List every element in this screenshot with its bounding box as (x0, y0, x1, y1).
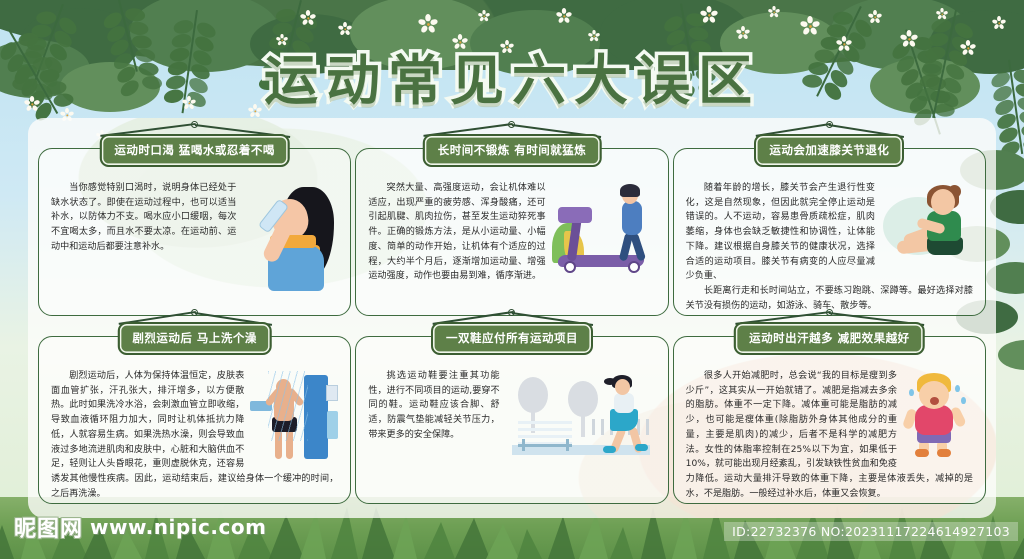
card-heading-plaque: 运动时出汗越多 减肥效果越好 (734, 322, 925, 355)
flower-icon (939, 11, 946, 18)
card-heading-text: 长时间不锻炼 有时间就猛炼 (438, 143, 587, 157)
card-frame: 当你感觉特别口渴时，说明身体已经处于缺水状态了。即使在运动过程中，也可以适当补水… (38, 148, 351, 316)
card-body: 很多人开始减肥时，总会说“我的目标是瘦到多少斤”，这其实从一开始就错了。减肥是指… (674, 363, 985, 497)
watermark-url: www.nipic.com (90, 515, 266, 539)
cards-grid: 运动时口渴 猛喝水或忍着不喝 当你感觉特别口渴时，说明身体已经处于缺水状态了。即… (28, 118, 996, 518)
hanger-ring-icon (191, 121, 198, 128)
flower-icon (771, 9, 778, 16)
id-stamp: ID:22732376 NO:20231117224614927103 (724, 522, 1018, 541)
card-shower[interactable]: 剧烈运动后 马上洗个澡 剧烈运动后，人体为保持体温恒定，皮肤表面血管扩张，汗孔张… (38, 322, 351, 504)
card-frame: 很多人开始减肥时，总会说“我的目标是瘦到多少斤”，这其实从一开始就错了。减肥是指… (673, 336, 986, 504)
chubby-kid-sweating-illustration (903, 371, 973, 457)
card-knee[interactable]: 运动会加速膝关节退化 随着年龄的增长，膝关节会产生退行性变化，这是自然现象，但因… (673, 134, 986, 316)
flower-icon (558, 10, 570, 22)
card-frame: 随着年龄的增长，膝关节会产生退行性变化，这是自然现象，但因此就完全停止运动是错误… (673, 148, 986, 316)
card-body: 突然大量、高强度运动，会让机体难以适应，出现严重的疲劳感、浑身酸痛，还可引起肌腱… (356, 175, 667, 309)
woman-drinking-water-illustration (242, 183, 338, 291)
grass-blade (579, 513, 608, 559)
card-heading-plaque: 一双鞋应付所有运动项目 (431, 322, 593, 355)
flower-icon (995, 19, 1004, 28)
flower-icon (702, 8, 717, 23)
grass-blade (455, 518, 490, 559)
card-body-text-2: 长距离行走和长时间站立，不要练习跑跳、深蹲等。最好选择对膝关节没有损伤的运动，如… (686, 284, 973, 309)
jogger-park-bench-illustration (506, 371, 656, 463)
grass-blade (517, 529, 542, 559)
poster-canvas: 运动常见六大误区 运动时口渴 猛喝水或忍着不喝 (0, 0, 1024, 559)
card-heading-plaque: 运动时口渴 猛喝水或忍着不喝 (99, 134, 290, 167)
girl-sitting-knee-illustration (881, 183, 973, 275)
flower-icon (801, 17, 819, 35)
grass-blade (548, 516, 575, 559)
flower-icon (419, 15, 437, 33)
poster-title: 运动常见六大误区 (0, 36, 1024, 115)
grass-blade (486, 524, 519, 559)
grass-blade (0, 525, 14, 559)
card-heading-plaque: 运动会加速膝关节退化 (754, 134, 904, 167)
card-intensity[interactable]: 长时间不锻炼 有时间就猛炼 突然大量、高强度运动，会让机体难以适应，出现严重的疲… (355, 134, 668, 316)
leaf-blob-right (998, 340, 1024, 370)
card-frame: 剧烈运动后，人体为保持体温恒定，皮肤表面血管扩张，汗孔张大，排汗增多，以方便散热… (38, 336, 351, 504)
watermark: 昵图网 www.nipic.com (14, 511, 266, 543)
card-heading-plaque: 剧烈运动后 马上洗个澡 (117, 322, 272, 355)
card-body: 随着年龄的增长，膝关节会产生退行性变化，这是自然现象，但因此就完全停止运动是错误… (674, 175, 985, 309)
flower-icon (302, 12, 314, 24)
man-showering-illustration (250, 371, 338, 467)
flower-icon (481, 13, 488, 20)
watermark-brand-cn: 昵图网 (14, 511, 83, 543)
card-body: 挑选运动鞋要注重其功能性，进行不同项目的运动,要穿不同的鞋。运动鞋应该合脚、舒适… (356, 363, 667, 497)
card-sweat[interactable]: 运动时出汗越多 减肥效果越好 (673, 322, 986, 504)
card-heading-text: 运动时出汗越多 减肥效果越好 (749, 331, 910, 345)
treadmill-runner-illustration (552, 183, 656, 279)
grass-blade (393, 514, 417, 559)
grass-blade (610, 527, 633, 559)
card-shoes[interactable]: 一双鞋应付所有运动项目 挑 (355, 322, 668, 504)
grass-blade (300, 511, 326, 559)
grass-blade (269, 515, 304, 559)
card-body: 当你感觉特别口渴时，说明身体已经处于缺水状态了。即使在运动过程中，也可以适当补水… (39, 175, 350, 309)
card-heading-text: 运动时口渴 猛喝水或忍着不喝 (114, 143, 275, 157)
card-body: 剧烈运动后，人体为保持体温恒定，皮肤表面血管扩张，汗孔张大，排汗增多，以方便散热… (39, 363, 350, 497)
card-heading-text: 运动会加速膝关节退化 (769, 143, 889, 157)
card-heading-text: 一双鞋应付所有运动项目 (446, 331, 578, 345)
hanger-ring-icon (508, 121, 515, 128)
content-panel: 运动时口渴 猛喝水或忍着不喝 当你感觉特别口渴时，说明身体已经处于缺水状态了。即… (28, 118, 996, 518)
card-heading-text: 剧烈运动后 马上洗个澡 (132, 331, 257, 345)
card-frame: 突然大量、高强度运动，会让机体难以适应，出现严重的疲劳感、浑身酸痛，还可引起肌腱… (355, 148, 668, 316)
flower-icon (871, 13, 880, 22)
card-frame: 挑选运动鞋要注重其功能性，进行不同项目的运动,要穿不同的鞋。运动鞋应该合脚、舒适… (355, 336, 668, 504)
flower-icon (341, 25, 350, 34)
grass-blade (424, 522, 455, 559)
hanger-ring-icon (826, 121, 833, 128)
card-heading-plaque: 长时间不锻炼 有时间就猛炼 (423, 134, 602, 167)
card-thirst[interactable]: 运动时口渴 猛喝水或忍着不喝 当你感觉特别口渴时，说明身体已经处于缺水状态了。即… (38, 134, 351, 316)
